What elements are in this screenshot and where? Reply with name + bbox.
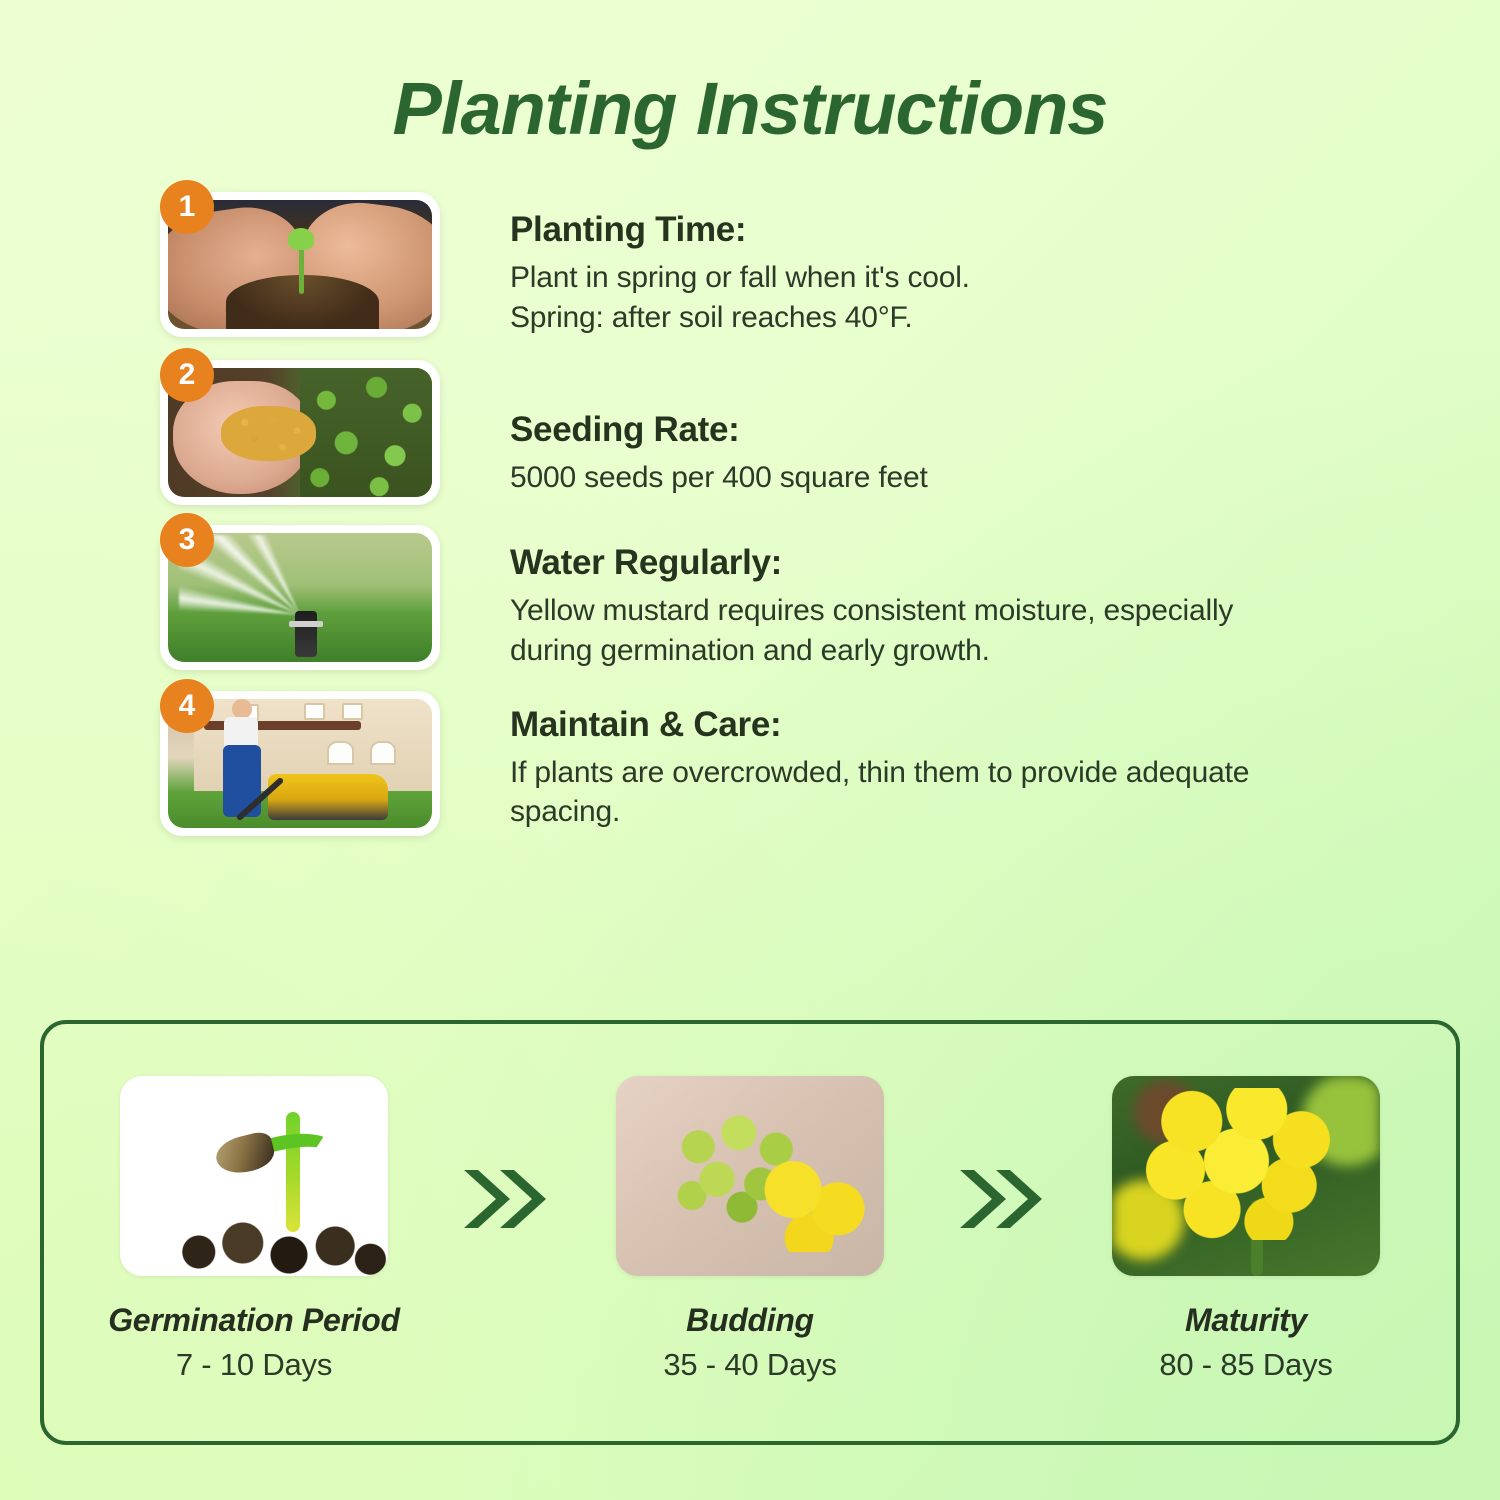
step-heading: Planting Time: — [510, 210, 970, 250]
page-title: Planting Instructions — [0, 0, 1500, 146]
window-shape — [304, 703, 325, 720]
growth-stage-germination: Germination Period 7 - 10 Days — [104, 1076, 404, 1383]
step-body-line: 5000 seeds per 400 square feet — [510, 458, 928, 498]
growth-timeline-panel: Germination Period 7 - 10 Days Budding 3… — [40, 1020, 1460, 1445]
window-shape — [327, 741, 353, 765]
lawn-mower-shape — [268, 774, 388, 820]
step-body-line: If plants are overcrowded, thin them to … — [510, 753, 1249, 793]
double-chevron-right-icon — [952, 1076, 1044, 1239]
step-number-badge: 2 — [160, 348, 214, 402]
soil-shape — [168, 1216, 388, 1276]
window-shape — [342, 703, 363, 720]
step-heading: Maintain & Care: — [510, 705, 1249, 745]
worker-figure-shape — [213, 699, 277, 817]
stage-duration: 7 - 10 Days — [104, 1347, 404, 1383]
yellow-mustard-flowers-photo — [1112, 1076, 1380, 1276]
stage-duration: 80 - 85 Days — [1096, 1347, 1396, 1383]
step-number-badge: 4 — [160, 679, 214, 733]
growth-stage-budding: Budding 35 - 40 Days — [600, 1076, 900, 1383]
instruction-step: 1 Planting Time: Plant in spring or fall… — [160, 192, 1440, 338]
step-text-block: Water Regularly: Yellow mustard requires… — [460, 525, 1233, 671]
seed-sprouting-in-soil-photo — [120, 1076, 388, 1276]
instruction-step: 4 Main — [160, 691, 1440, 836]
step-body-line: spacing. — [510, 792, 1249, 832]
instruction-steps-list: 1 Planting Time: Plant in spring or fall… — [0, 192, 1500, 836]
step-text-block: Maintain & Care: If plants are overcrowd… — [460, 691, 1249, 833]
step-thumbnail-wrapper: 2 — [160, 360, 460, 505]
step-body-line: Spring: after soil reaches 40°F. — [510, 298, 970, 338]
step-text-block: Seeding Rate: 5000 seeds per 400 square … — [460, 360, 928, 498]
step-number-badge: 1 — [160, 180, 214, 234]
step-heading: Seeding Rate: — [510, 410, 928, 450]
seed-pile-shape — [221, 406, 316, 460]
sprinkler-head-shape — [295, 611, 317, 657]
step-body-line: Plant in spring or fall when it's cool. — [510, 258, 970, 298]
stage-label: Budding — [600, 1302, 900, 1339]
step-thumbnail-wrapper: 1 — [160, 192, 460, 337]
instruction-step: 2 Seeding Rate: 5000 seeds per 400 squar… — [160, 360, 1440, 505]
mustard-flower-buds-photo — [616, 1076, 884, 1276]
flower-cluster-shape — [1139, 1088, 1343, 1240]
instruction-step: 3 Water Regularly: Yellow mustard requir… — [160, 525, 1440, 671]
step-thumbnail-wrapper: 4 — [160, 691, 460, 836]
step-text-block: Planting Time: Plant in spring or fall w… — [460, 192, 970, 338]
step-body-line: Yellow mustard requires consistent moist… — [510, 591, 1233, 631]
step-number-badge: 3 — [160, 513, 214, 567]
double-chevron-right-icon — [456, 1076, 548, 1239]
stage-duration: 35 - 40 Days — [600, 1347, 900, 1383]
growth-timeline: Germination Period 7 - 10 Days Budding 3… — [44, 1024, 1456, 1441]
stage-label: Germination Period — [104, 1302, 404, 1339]
step-heading: Water Regularly: — [510, 543, 1233, 583]
step-thumbnail-wrapper: 3 — [160, 525, 460, 670]
growth-stage-maturity: Maturity 80 - 85 Days — [1096, 1076, 1396, 1383]
window-shape — [370, 741, 396, 765]
yellow-petal-shape — [761, 1156, 868, 1252]
sprout-icon — [280, 228, 320, 298]
stage-label: Maturity — [1096, 1302, 1396, 1339]
step-body-line: during germination and early growth. — [510, 631, 1233, 671]
